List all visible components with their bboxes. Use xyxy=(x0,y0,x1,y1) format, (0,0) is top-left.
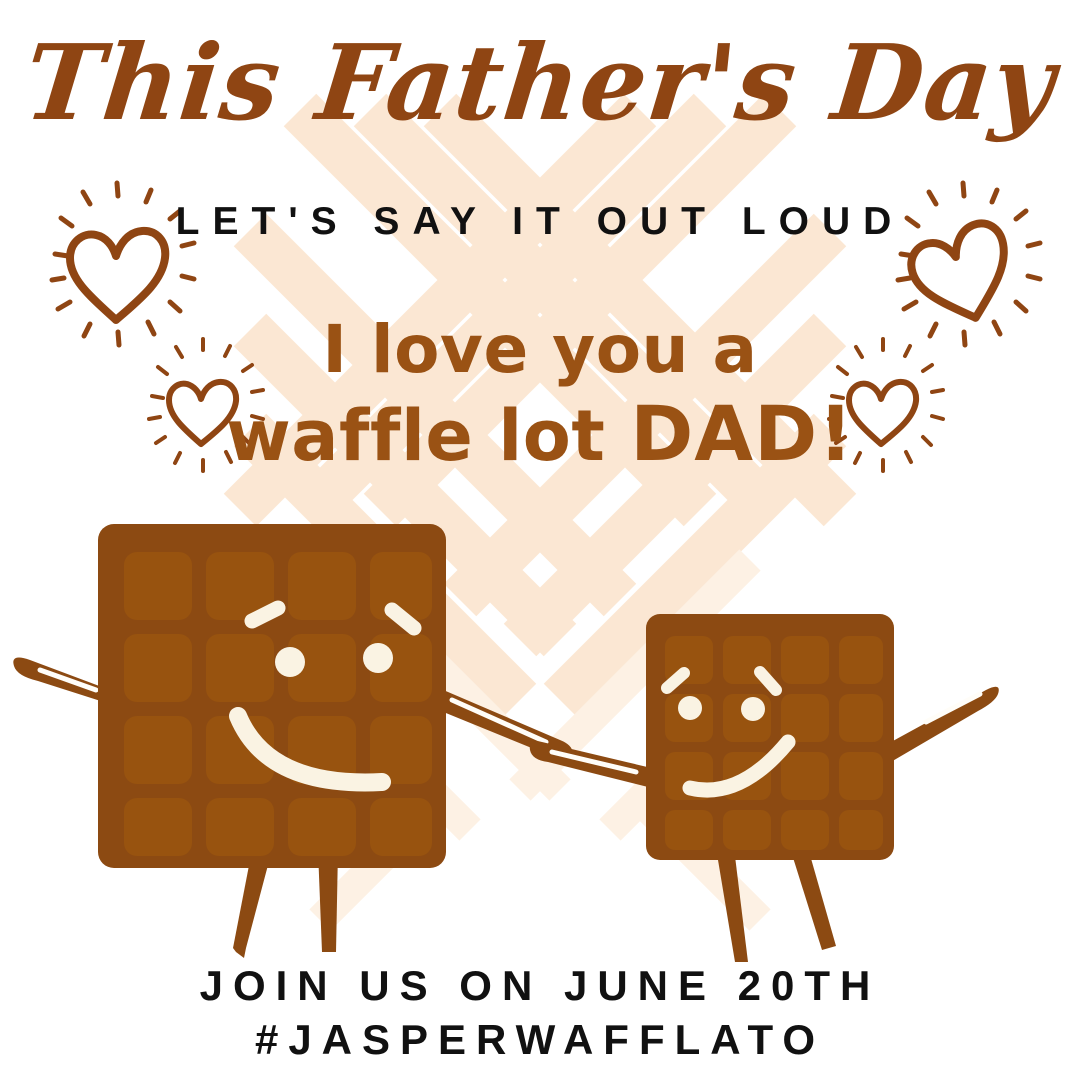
message-line-2-prefix: waffle lot xyxy=(226,395,630,477)
text-layer: This Father's Day LET'S SAY IT OUT LOUD … xyxy=(0,0,1080,1080)
message-dad-emphasis: DAD! xyxy=(630,389,854,478)
page-title: This Father's Day xyxy=(0,28,1080,137)
footer-block: JOIN US ON JUNE 20TH #JASPERWAFFLATO xyxy=(0,962,1080,1064)
hashtag-text: #JASPERWAFFLATO xyxy=(0,1016,1080,1064)
message-line-1: I love you a xyxy=(322,311,757,388)
subtitle-text: LET'S SAY IT OUT LOUD xyxy=(0,200,1080,244)
message-line-2: waffle lot DAD! xyxy=(0,391,1080,478)
poster-canvas: This Father's Day LET'S SAY IT OUT LOUD … xyxy=(0,0,1080,1080)
event-date-text: JOIN US ON JUNE 20TH xyxy=(0,962,1080,1010)
main-message: I love you a waffle lot DAD! xyxy=(0,312,1080,478)
